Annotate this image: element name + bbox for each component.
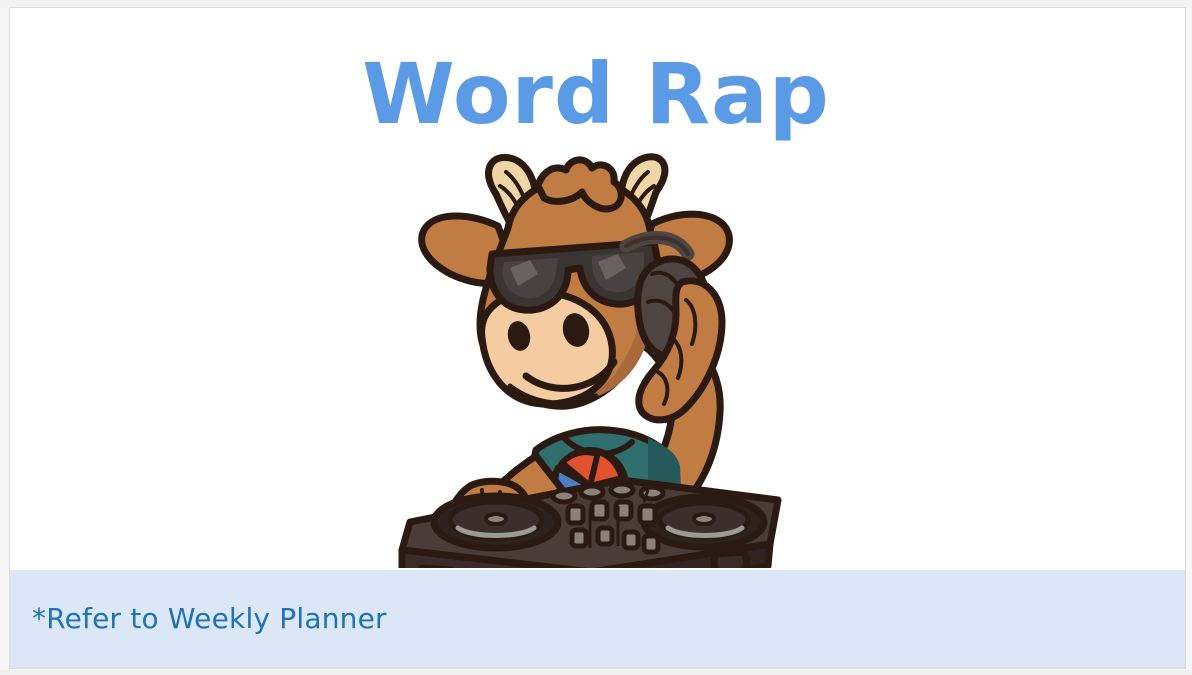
footer-band: *Refer to Weekly Planner [10, 570, 1185, 668]
page-edge-bottom [0, 670, 1192, 675]
page-title: Word Rap [0, 50, 1192, 138]
footer-note: *Refer to Weekly Planner [32, 602, 387, 635]
page-edge-top [0, 0, 1192, 8]
slide-border-bottom [9, 668, 1186, 669]
slide-canvas: Word Rap [0, 0, 1192, 675]
dj-cow-illustration [386, 150, 796, 568]
slide-border-top [9, 7, 1186, 8]
